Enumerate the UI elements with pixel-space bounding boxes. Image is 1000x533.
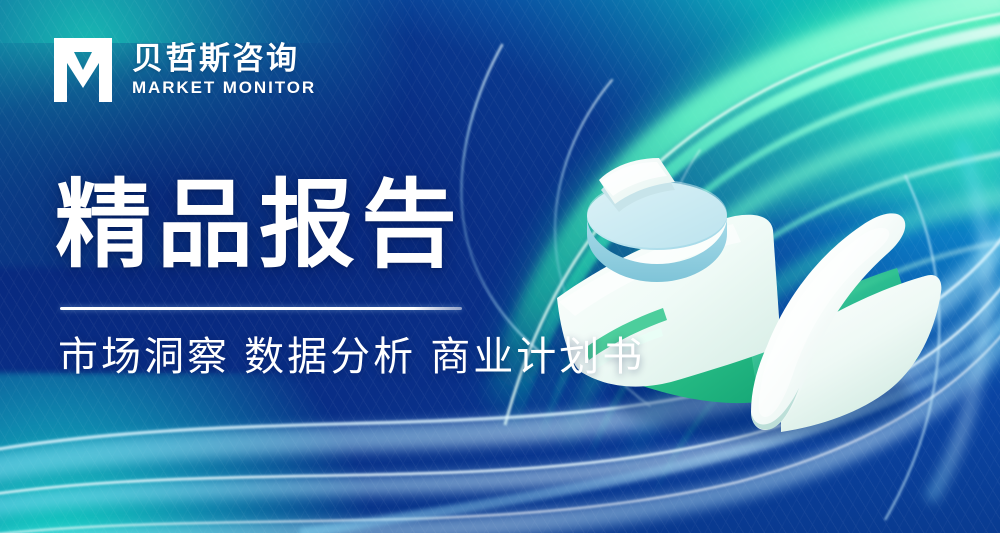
report-promo-banner: 贝哲斯咨询 MARKET MONITOR 精品报告 市场洞察 数据分析 商业计划… — [0, 0, 1000, 533]
brand-text: 贝哲斯咨询 MARKET MONITOR — [132, 43, 316, 98]
brand-logo[interactable]: 贝哲斯咨询 MARKET MONITOR — [52, 36, 316, 104]
headline-title: 精品报告 — [55, 178, 463, 274]
open-book-illustration — [545, 150, 945, 450]
brand-name-cn: 贝哲斯咨询 — [132, 43, 316, 76]
divider-line — [60, 307, 462, 310]
brand-name-en: MARKET MONITOR — [132, 79, 316, 98]
market-monitor-m-logo-icon — [52, 36, 114, 104]
subtitle-keywords: 市场洞察 数据分析 商业计划书 — [58, 331, 645, 383]
